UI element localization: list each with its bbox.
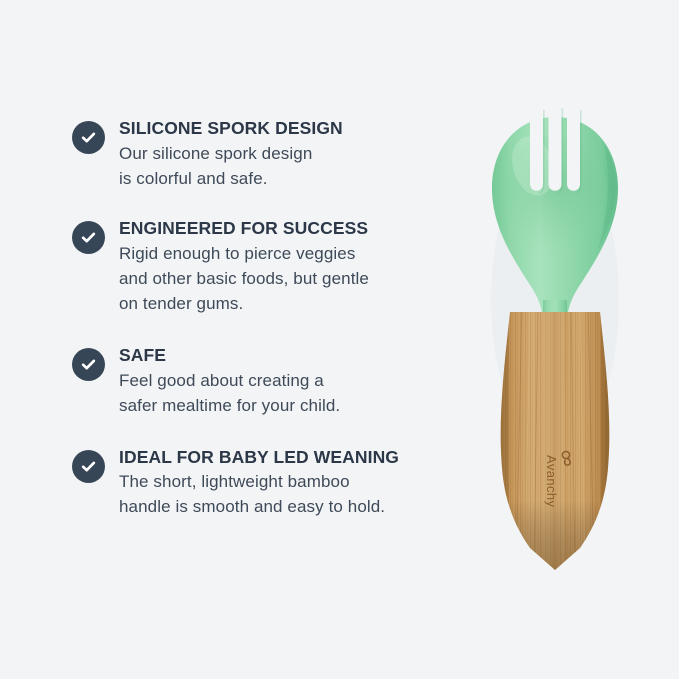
feature-description-line: is colorful and safe. <box>119 167 472 192</box>
check-circle-icon <box>72 121 105 154</box>
spork-prong-slots <box>530 102 580 191</box>
feature-description-line: The short, lightweight bamboo <box>119 470 472 495</box>
feature-description: Rigid enough to pierce veggies and other… <box>119 242 472 317</box>
feature-description: Our silicone spork design is colorful an… <box>119 142 472 192</box>
feature-title: SILICONE SPORK DESIGN <box>119 118 472 140</box>
feature-description-line: safer mealtime for your child. <box>119 394 472 419</box>
product-photo: Avanchy <box>470 100 640 580</box>
feature-description-line: and other basic foods, but gentle <box>119 267 472 292</box>
feature-title: IDEAL FOR BABY LED WEANING <box>119 447 472 469</box>
feature-item: SAFE Feel good about creating a safer me… <box>72 345 472 419</box>
check-circle-icon <box>72 221 105 254</box>
check-circle-icon <box>72 348 105 381</box>
feature-description: The short, lightweight bamboo handle is … <box>119 470 472 520</box>
spork-bamboo-handle: Avanchy <box>498 305 612 575</box>
product-infographic: SILICONE SPORK DESIGN Our silicone spork… <box>0 0 679 679</box>
feature-description-line: Our silicone spork design <box>119 142 472 167</box>
feature-item: SILICONE SPORK DESIGN Our silicone spork… <box>72 118 472 192</box>
feature-description: Feel good about creating a safer mealtim… <box>119 369 472 419</box>
feature-description-line: handle is smooth and easy to hold. <box>119 495 472 520</box>
brand-logo-text: Avanchy <box>544 455 559 508</box>
check-circle-icon <box>72 450 105 483</box>
feature-list: SILICONE SPORK DESIGN Our silicone spork… <box>72 118 472 542</box>
feature-title: ENGINEERED FOR SUCCESS <box>119 218 472 240</box>
feature-description-line: on tender gums. <box>119 292 472 317</box>
feature-description-line: Rigid enough to pierce veggies <box>119 242 472 267</box>
feature-description-line: Feel good about creating a <box>119 369 472 394</box>
feature-title: SAFE <box>119 345 472 367</box>
feature-item: IDEAL FOR BABY LED WEANING The short, li… <box>72 447 472 521</box>
feature-item: ENGINEERED FOR SUCCESS Rigid enough to p… <box>72 218 472 317</box>
